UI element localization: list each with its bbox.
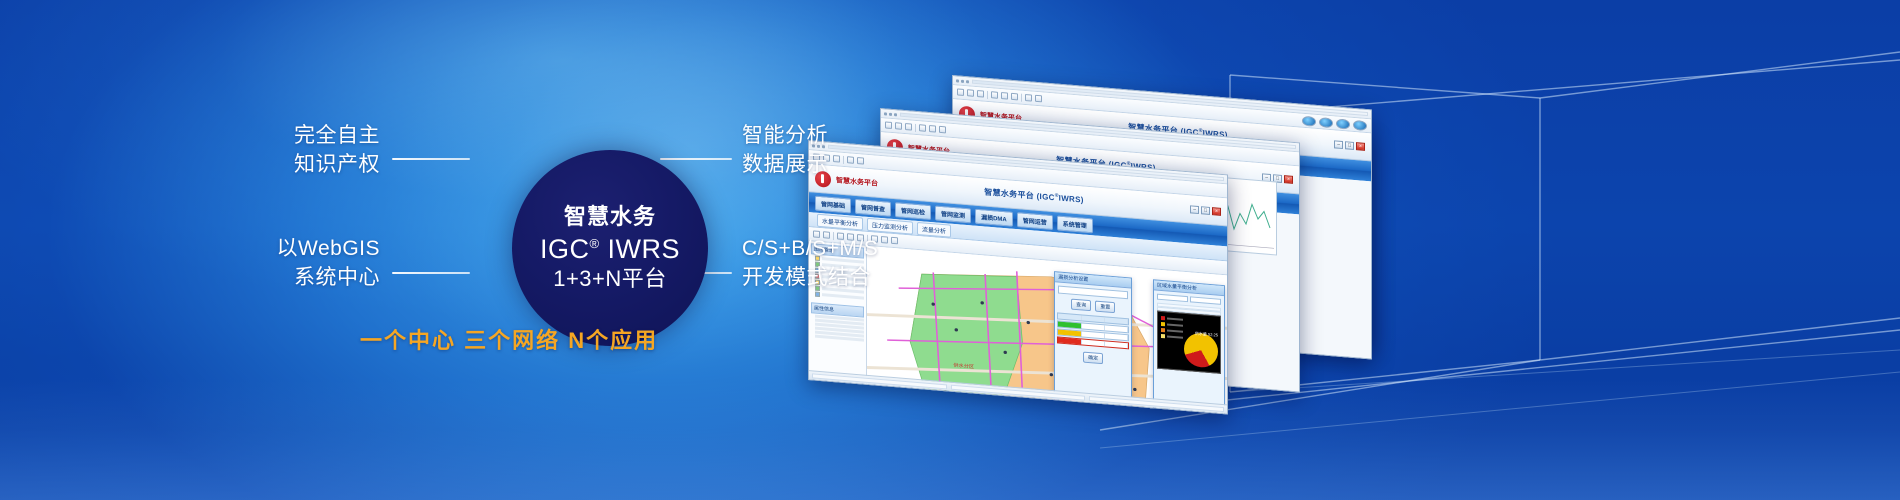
back-window-buttons[interactable]: – □ ×	[1334, 140, 1365, 151]
dialog-button-row[interactable]: 查询 重置	[1055, 297, 1131, 314]
measure-icon[interactable]	[1035, 95, 1042, 103]
chrome-dots	[884, 112, 897, 116]
dialog-input[interactable]	[1058, 285, 1128, 299]
ribbon-report-icon[interactable]	[1336, 118, 1350, 129]
registered-mark-icon: ®	[589, 236, 599, 251]
chrome-dots	[956, 79, 969, 83]
ribbon-network-icon[interactable]	[1319, 117, 1333, 128]
nav-tab[interactable]: 管网基础	[815, 195, 851, 213]
maximize-button[interactable]: □	[1201, 206, 1210, 215]
feature-top-right-line2: 数据展示	[742, 151, 942, 180]
ribbon-globe-icon[interactable]	[1302, 115, 1316, 126]
background-floor-glow	[0, 380, 1900, 500]
nav-tab[interactable]: 管网普查	[855, 198, 891, 216]
pie-chart-container: 供水量 52.25	[1157, 310, 1221, 373]
feature-top-right-line1: 智能分析	[742, 122, 942, 151]
connector-top-left	[392, 158, 470, 160]
feature-top-left-line2: 知识产权	[200, 151, 380, 180]
core-iwrs-text: IWRS	[600, 234, 681, 264]
reset-button[interactable]: 重置	[1095, 300, 1115, 313]
date-to-input[interactable]	[1190, 296, 1221, 305]
feature-bottom-left: 以WebGIS 系统中心	[180, 235, 380, 293]
connector-top-right	[660, 158, 732, 160]
zoom-in-icon[interactable]	[1001, 92, 1008, 100]
core-circle-line3: 1+3+N平台	[553, 267, 667, 291]
building-footprints	[919, 398, 938, 414]
open-icon[interactable]	[967, 89, 974, 97]
feature-top-left: 完全自主 知识产权	[200, 122, 380, 180]
core-brand-circle: 智慧水务 IGC® IWRS 1+3+N平台	[512, 150, 708, 346]
save-icon[interactable]	[977, 90, 984, 98]
core-circle-line2: IGC® IWRS	[540, 235, 680, 264]
feature-bottom-left-line1: 以WebGIS	[180, 235, 380, 264]
nav-tab[interactable]: 漏损DMA	[975, 208, 1013, 226]
close-button[interactable]: ×	[1284, 175, 1293, 184]
zoom-out-icon[interactable]	[1011, 93, 1018, 101]
water-balance-panel[interactable]: 区域水量平衡分析	[1153, 279, 1225, 415]
query-button[interactable]: 查询	[1071, 298, 1091, 311]
maximize-button[interactable]: □	[1345, 141, 1354, 150]
toolbar-separator	[987, 90, 988, 98]
date-from-input[interactable]	[1157, 293, 1188, 302]
print-icon[interactable]	[991, 91, 998, 99]
toolbar-separator	[1021, 93, 1022, 101]
dialog-footer[interactable]: 确定	[1055, 349, 1131, 366]
minimize-button[interactable]: –	[1334, 140, 1343, 149]
feature-bottom-right-line1: C/S+B/S+M/S	[742, 235, 982, 264]
front-window-buttons[interactable]: – □ ×	[1190, 205, 1221, 216]
feature-bottom-right: C/S+B/S+M/S 开发模式结合	[742, 235, 982, 293]
layer-icon[interactable]	[1025, 94, 1032, 102]
feature-top-left-line1: 完全自主	[200, 122, 380, 151]
nav-tab[interactable]: 管网运营	[1017, 212, 1053, 230]
banner-tagline: 一个中心 三个网络 N个应用	[360, 323, 658, 355]
connector-bottom-left	[392, 272, 470, 274]
new-icon[interactable]	[957, 88, 964, 96]
feature-top-right: 智能分析 数据展示	[742, 122, 942, 180]
close-button[interactable]: ×	[1212, 207, 1221, 216]
nav-tab[interactable]: 系统管理	[1057, 215, 1093, 233]
nav-tab[interactable]: 管网巡检	[895, 202, 931, 220]
banner-root: – □ ×	[0, 0, 1900, 500]
feature-bottom-right-line2: 开发模式结合	[742, 264, 982, 293]
core-circle-line1: 智慧水务	[564, 205, 656, 229]
nav-tab[interactable]: 管网监测	[935, 205, 971, 223]
dialog-confirm-button[interactable]: 确定	[1083, 351, 1103, 364]
pie-chart-legend	[1161, 315, 1183, 339]
minimize-button[interactable]: –	[1190, 205, 1199, 214]
close-button[interactable]: ×	[1356, 142, 1365, 151]
ribbon-settings-icon[interactable]	[1353, 119, 1367, 130]
feature-bottom-left-line2: 系统中心	[180, 264, 380, 293]
core-igc-text: IGC	[540, 234, 590, 264]
